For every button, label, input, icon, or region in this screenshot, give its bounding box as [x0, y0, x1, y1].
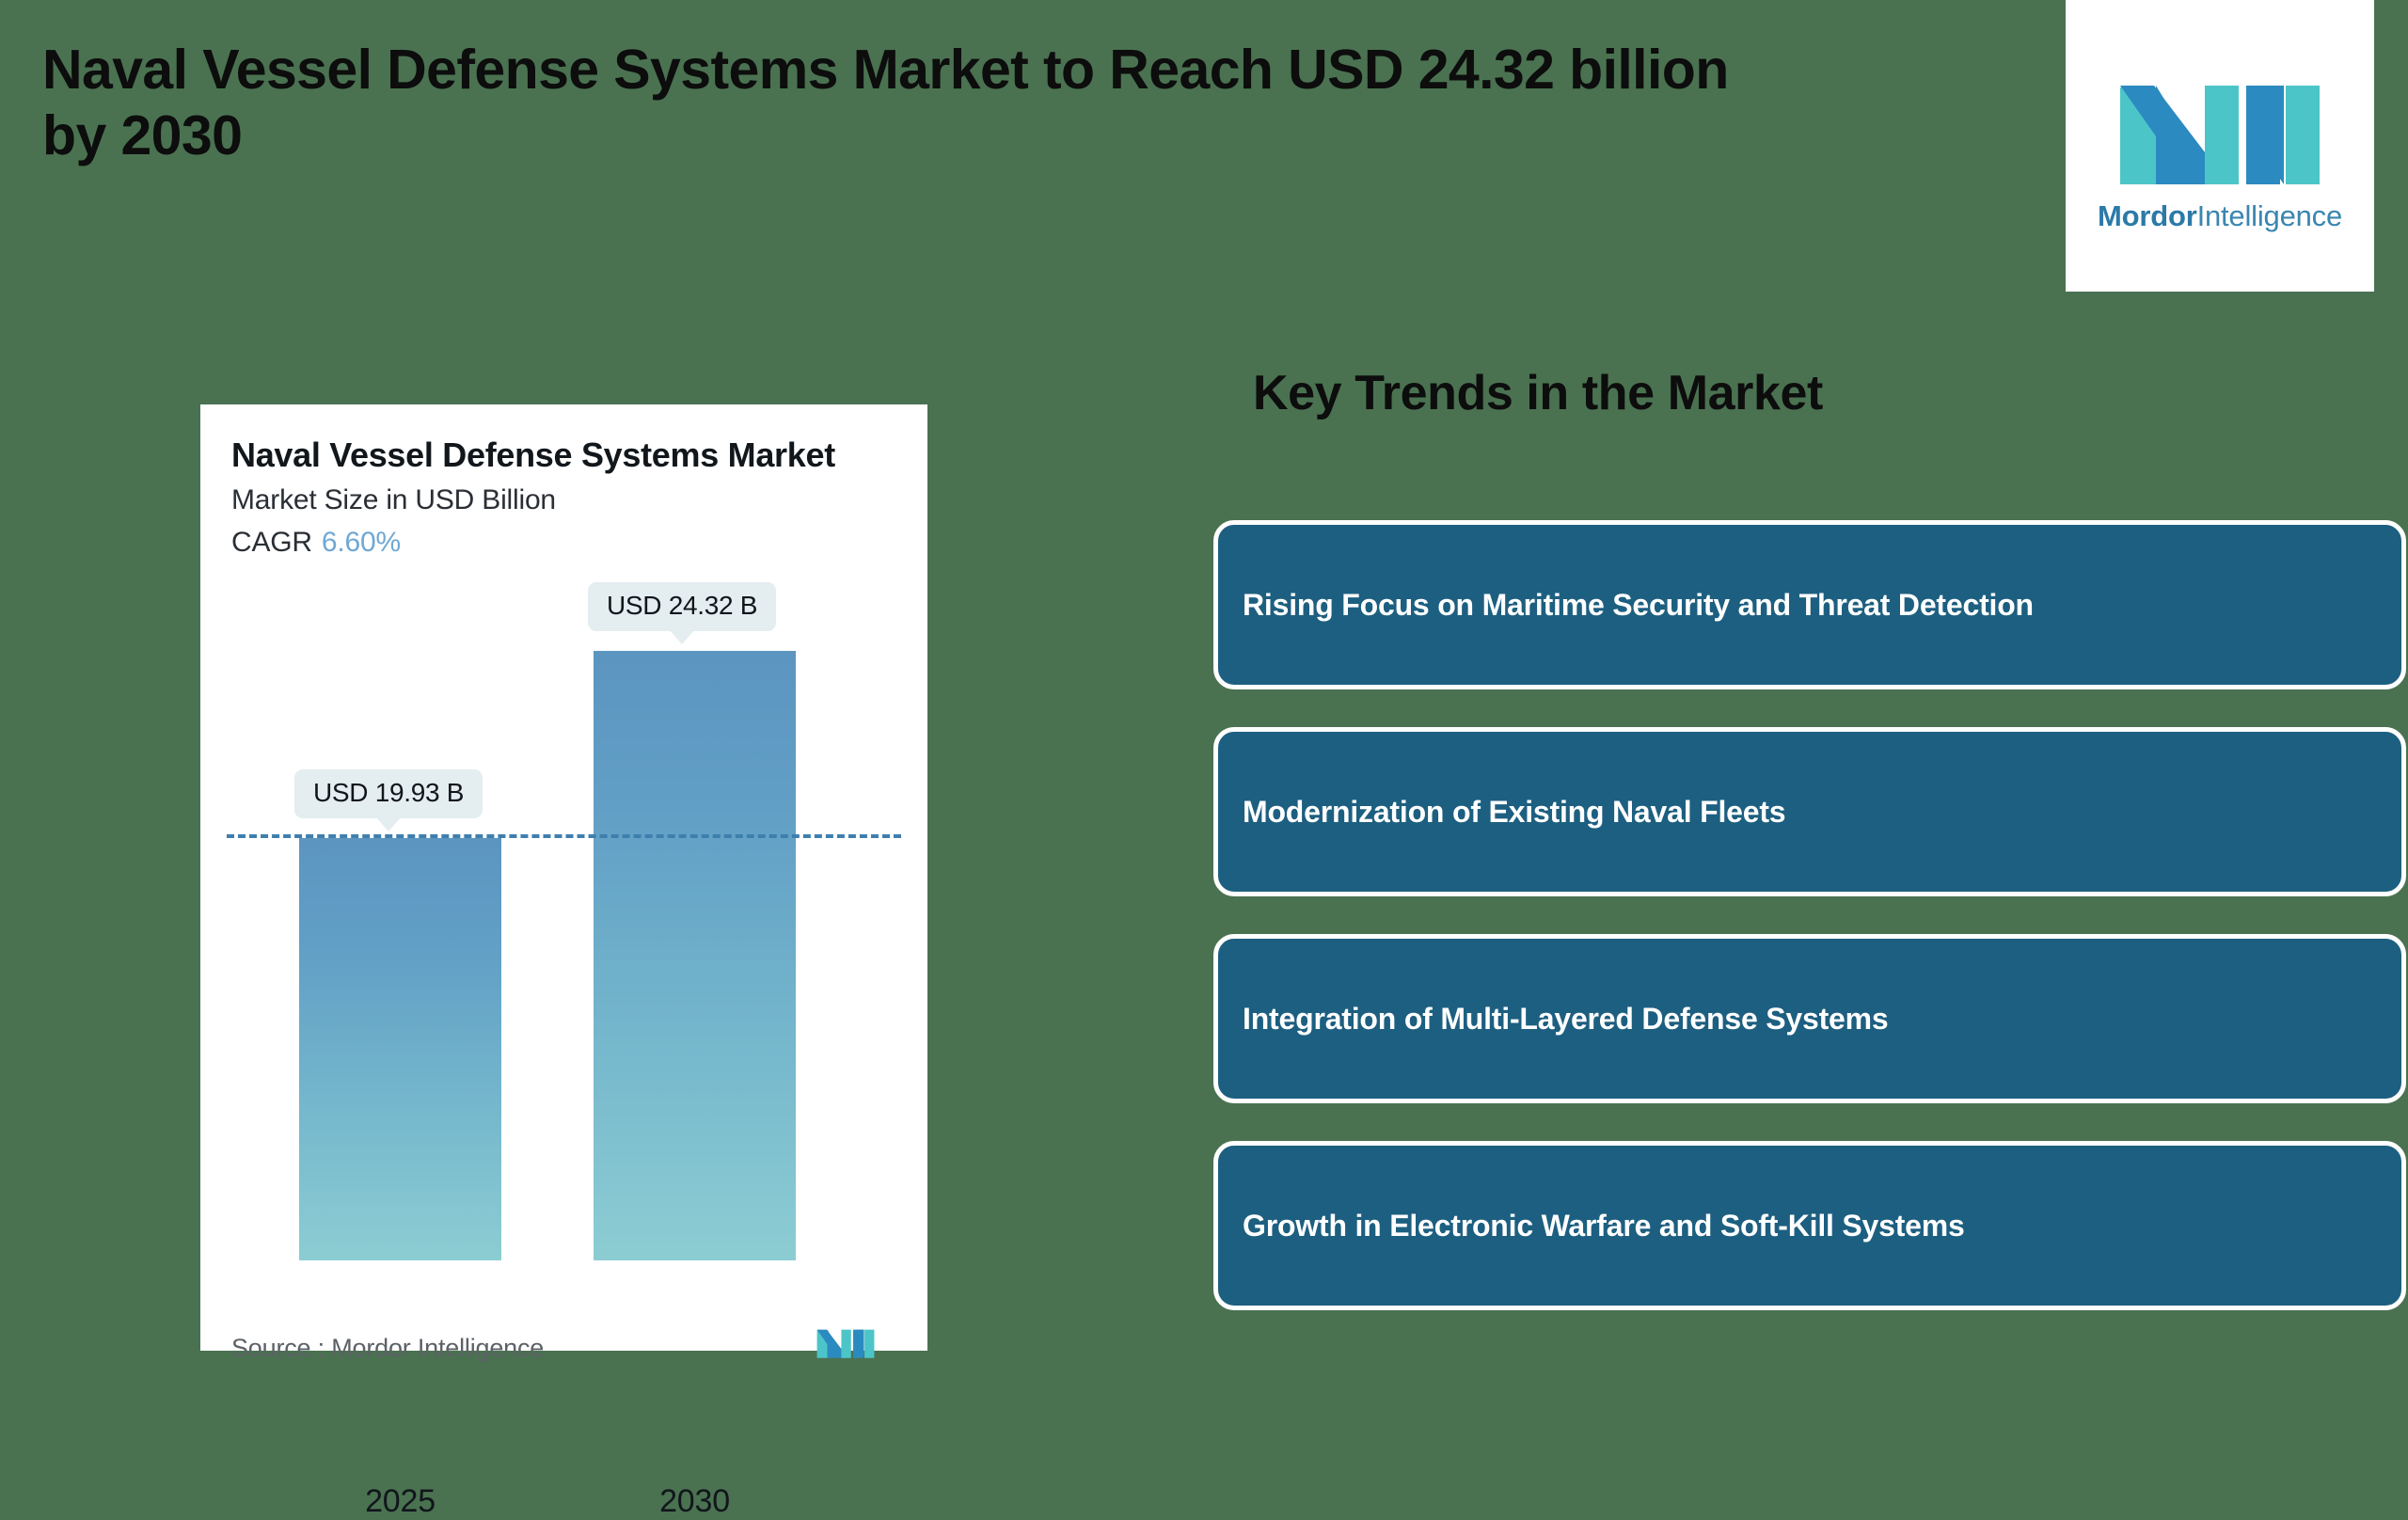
trend-card-label: Growth in Electronic Warfare and Soft-Ki… [1243, 1209, 1965, 1243]
key-trends-heading: Key Trends in the Market [1253, 365, 1823, 421]
chart-title: Naval Vessel Defense Systems Market [231, 435, 835, 475]
x-axis-label-2030: 2030 [594, 1483, 796, 1520]
logo-wordmark-light: Intelligence [2197, 199, 2342, 232]
trend-card-3[interactable]: Integration of Multi-Layered Defense Sys… [1213, 934, 2406, 1103]
value-badge-2030: USD 24.32 B [588, 582, 776, 631]
reference-dashed-line [227, 834, 901, 838]
trend-card-4[interactable]: Growth in Electronic Warfare and Soft-Ki… [1213, 1141, 2406, 1310]
x-axis-label-2025: 2025 [299, 1483, 501, 1520]
trend-card-label: Rising Focus on Maritime Security and Th… [1243, 588, 2034, 623]
chart-subtitle: Market Size in USD Billion [231, 484, 556, 516]
logo-wordmark: MordorIntelligence [2098, 199, 2342, 233]
bar-2030 [594, 651, 796, 1260]
trend-card-1[interactable]: Rising Focus on Maritime Security and Th… [1213, 520, 2406, 689]
value-badge-2025: USD 19.93 B [294, 769, 483, 818]
trend-card-label: Integration of Multi-Layered Defense Sys… [1243, 1002, 1888, 1037]
chart-card: Naval Vessel Defense Systems Market Mark… [200, 404, 927, 1351]
cagr-label: CAGR [231, 527, 312, 558]
bar-2025 [299, 838, 501, 1260]
trend-card-label: Modernization of Existing Naval Fleets [1243, 795, 1785, 830]
page-title: Naval Vessel Defense Systems Market to R… [42, 38, 2027, 168]
chart-source-label: Source : Mordor Intelligence [231, 1334, 544, 1363]
mordor-intelligence-logo-icon [2118, 59, 2321, 186]
cagr-row: CAGR6.60% [231, 527, 401, 559]
logo-wordmark-bold: Mordor [2098, 199, 2197, 232]
cagr-value: 6.60% [322, 527, 401, 558]
brand-logo-card: MordorIntelligence [2066, 0, 2374, 292]
trend-card-2[interactable]: Modernization of Existing Naval Fleets [1213, 727, 2406, 896]
bar-chart-plot-area: USD 19.93 B USD 24.32 B 2025 2030 [200, 607, 927, 1260]
source-mordor-logo-icon [816, 1322, 875, 1359]
key-trends-list: Rising Focus on Maritime Security and Th… [1213, 520, 2406, 1348]
